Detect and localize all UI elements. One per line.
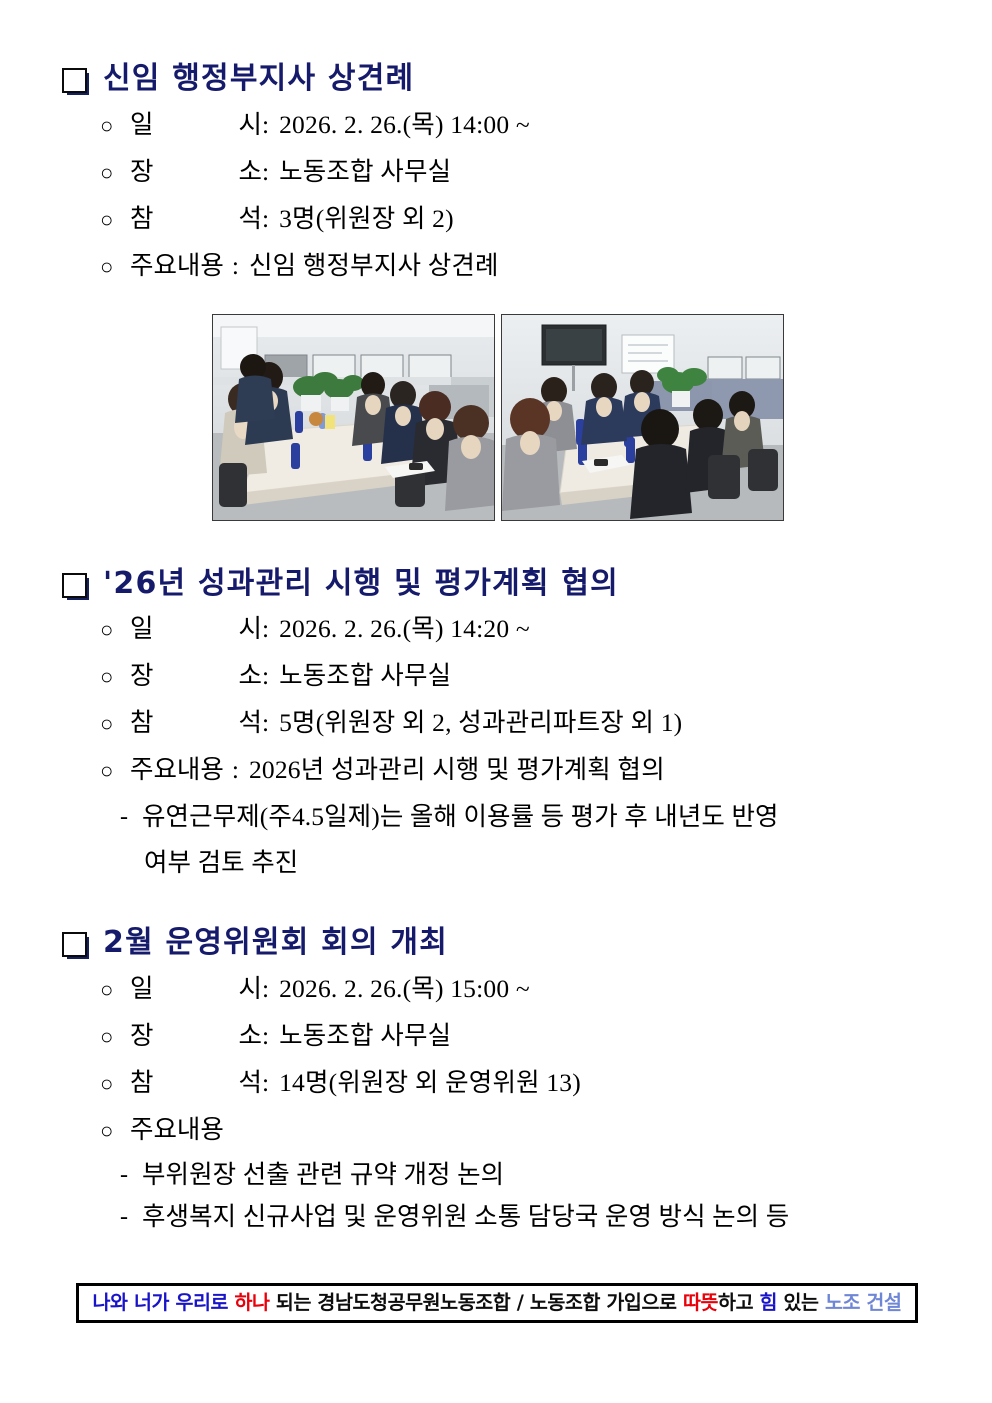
circle-bullet-icon: ○ [100,701,130,747]
circle-bullet-icon: ○ [100,150,130,196]
circle-bullet-icon: ○ [100,1061,130,1107]
document-page: 신임 행정부지사 상견례 ○ 일 시 : 2026. 2. 26.(목) 14:… [0,0,992,1403]
footer-segment-3: 되는 경남도청공무원노동조합 / 노동조합 가입으로 [270,1291,683,1314]
section-1: 신임 행정부지사 상견례 ○ 일 시 : 2026. 2. 26.(목) 14:… [0,0,992,521]
dash-bullet-icon: - [120,1154,142,1196]
row-value: 2026. 2. 26.(목) 14:00 ~ [269,102,530,148]
dash-bullet-icon: - [120,794,142,840]
row-label: 일 시 [130,102,262,148]
section-3-heading: 2월 운영위원회 회의 개최 [0,926,992,960]
footer-segment-2: 하나 [234,1291,269,1314]
section-2-heading: '26년 성과관리 시행 및 평가계획 협의 [0,567,992,601]
circle-bullet-icon: ○ [100,1014,130,1060]
footer-slogan-text: 나와 너가 우리로 하나 되는 경남도청공무원노동조합 / 노동조합 가입으로 … [93,1293,902,1313]
section-2-row-datetime: ○ 일 시 : 2026. 2. 26.(목) 14:20 ~ [100,606,992,653]
row-separator: : [262,196,269,242]
row-value: 3명(위원장 외 2) [269,196,454,242]
circle-bullet-icon: ○ [100,654,130,700]
dash-bullet-icon: - [120,1196,142,1238]
row-value: 신임 행정부지사 상견례 [239,243,499,289]
square-bullet-icon [62,68,87,93]
footer-segment-5: 하고 [718,1291,759,1314]
row-separator: : [224,243,239,289]
row-label: 주요내용 [130,243,224,289]
row-value: 2026. 2. 26.(목) 15:00 ~ [269,966,530,1012]
row-separator: : [262,102,269,148]
circle-bullet-icon: ○ [100,1108,130,1154]
section-2-sub-item-text: 유연근무제(주4.5일제)는 올해 이용률 등 평가 후 내년도 반영 여부 검… [142,794,932,886]
circle-bullet-icon: ○ [100,748,130,794]
section-2-row-place: ○ 장 소 : 노동조합 사무실 [100,653,992,700]
circle-bullet-icon: ○ [100,103,130,149]
section-1-heading: 신임 행정부지사 상견례 [0,62,992,96]
section-3-row-attendees: ○ 참 석 : 14명(위원장 외 운영위원 13) [100,1060,992,1107]
row-separator: : [262,966,269,1012]
row-value: 노동조합 사무실 [269,653,451,699]
row-separator: : [262,1060,269,1106]
row-value: 5명(위원장 외 2, 성과관리파트장 외 1) [269,700,682,746]
section-3-rows: ○ 일 시 : 2026. 2. 26.(목) 15:00 ~ ○ 장 소 : … [0,966,992,1154]
row-label: 일 시 [130,966,262,1012]
section-3-row-summary: ○ 주요내용 [100,1107,992,1154]
row-label: 장 소 [130,1013,262,1059]
row-value: 2026. 2. 26.(목) 14:20 ~ [269,606,530,652]
circle-bullet-icon: ○ [100,197,130,243]
sub-item-line-2: 여부 검토 추진 [142,840,932,886]
section-3-row-place: ○ 장 소 : 노동조합 사무실 [100,1013,992,1060]
meeting-photo-right [501,314,784,521]
row-label: 장 소 [130,149,262,195]
section-1-rows: ○ 일 시 : 2026. 2. 26.(목) 14:00 ~ ○ 장 소 : … [0,102,992,290]
row-value: 노동조합 사무실 [269,1013,451,1059]
footer-segment-4: 따뜻 [683,1291,718,1314]
row-separator: : [262,1013,269,1059]
circle-bullet-icon: ○ [100,967,130,1013]
row-label: 참 석 [130,700,262,746]
meeting-photo-right-graphic [502,315,784,521]
section-2-row-attendees: ○ 참 석 : 5명(위원장 외 2, 성과관리파트장 외 1) [100,700,992,747]
circle-bullet-icon: ○ [100,244,130,290]
section-1-row-attendees: ○ 참 석 : 3명(위원장 외 2) [100,196,992,243]
footer-segment-1: 나와 너가 우리로 [93,1291,235,1314]
section-2-sub-item: - 유연근무제(주4.5일제)는 올해 이용률 등 평가 후 내년도 반영 여부… [0,794,992,886]
row-value: 2026년 성과관리 시행 및 평가계획 협의 [239,747,665,793]
row-label: 장 소 [130,653,262,699]
row-label: 참 석 [130,196,262,242]
section-3-sub-item-2-text: 후생복지 신규사업 및 운영위원 소통 담당국 운영 방식 논의 등 [142,1196,962,1238]
row-label: 주요내용 [130,1107,224,1153]
section-3-sub-item-2: - 후생복지 신규사업 및 운영위원 소통 담당국 운영 방식 논의 등 [0,1196,992,1238]
photo-strip [0,314,992,521]
section-3: 2월 운영위원회 회의 개최 ○ 일 시 : 2026. 2. 26.(목) 1… [0,926,992,1238]
footer-segment-8: 노조 건설 [825,1291,902,1314]
row-separator: : [262,700,269,746]
section-2: '26년 성과관리 시행 및 평가계획 협의 ○ 일 시 : 2026. 2. … [0,567,992,887]
section-3-sub-item-1-text: 부위원장 선출 관련 규약 개정 논의 [142,1154,932,1196]
row-separator: : [224,747,239,793]
section-1-row-place: ○ 장 소 : 노동조합 사무실 [100,149,992,196]
row-separator: : [262,653,269,699]
row-label: 일 시 [130,606,262,652]
footer-segment-6: 힘 [760,1291,778,1314]
section-2-rows: ○ 일 시 : 2026. 2. 26.(목) 14:20 ~ ○ 장 소 : … [0,606,992,794]
row-value: 14명(위원장 외 운영위원 13) [269,1060,581,1106]
meeting-photo-left-graphic [213,315,495,521]
section-2-title: '26년 성과관리 시행 및 평가계획 협의 [103,567,619,601]
square-bullet-icon [62,932,87,957]
square-bullet-icon [62,573,87,598]
row-value: 노동조합 사무실 [269,149,451,195]
section-1-row-summary: ○ 주요내용 : 신임 행정부지사 상견례 [100,243,992,290]
circle-bullet-icon: ○ [100,607,130,653]
footer-segment-7: 있는 [777,1291,825,1314]
row-label: 주요내용 [130,747,224,793]
section-3-title: 2월 운영위원회 회의 개최 [103,926,448,960]
section-3-row-datetime: ○ 일 시 : 2026. 2. 26.(목) 15:00 ~ [100,966,992,1013]
row-separator: : [262,606,269,652]
section-1-title: 신임 행정부지사 상견례 [103,62,414,96]
sub-item-line-1: 유연근무제(주4.5일제)는 올해 이용률 등 평가 후 내년도 반영 [142,802,779,831]
footer-slogan-banner: 나와 너가 우리로 하나 되는 경남도청공무원노동조합 / 노동조합 가입으로 … [76,1283,918,1323]
section-3-sub-item-1: - 부위원장 선출 관련 규약 개정 논의 [0,1154,992,1196]
row-label: 참 석 [130,1060,262,1106]
section-1-row-datetime: ○ 일 시 : 2026. 2. 26.(목) 14:00 ~ [100,102,992,149]
row-separator: : [262,149,269,195]
section-2-row-summary: ○ 주요내용 : 2026년 성과관리 시행 및 평가계획 협의 [100,747,992,794]
meeting-photo-left [212,314,495,521]
